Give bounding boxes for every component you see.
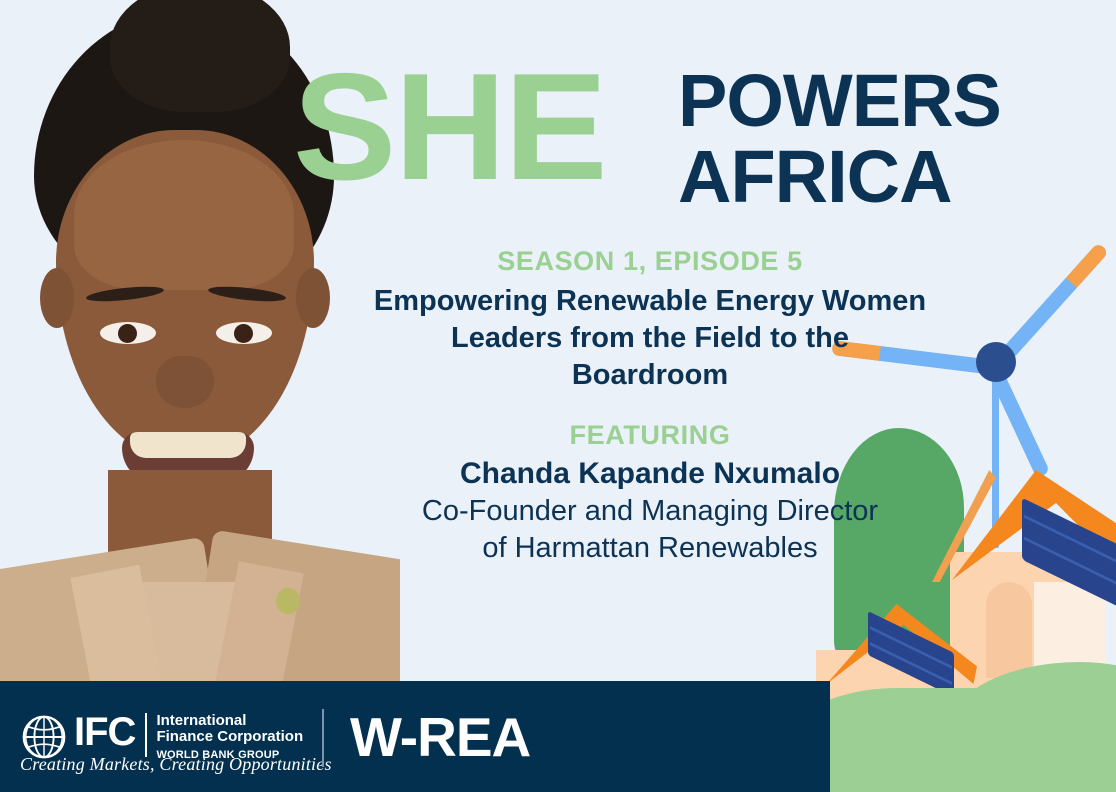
- ifc-name-line-2: Finance Corporation: [156, 729, 303, 745]
- show-title: SHE POWERS AFRICA: [296, 44, 1086, 224]
- show-title-she: SHE: [293, 52, 606, 202]
- footer-bar: IFC International Finance Corporation WO…: [0, 681, 830, 792]
- portrait-teeth: [130, 432, 246, 458]
- portrait-eye-left: [100, 322, 156, 344]
- portrait-eye-right: [216, 322, 272, 344]
- portrait-hair-bun: [110, 0, 290, 112]
- featuring-label: FEATURING: [330, 420, 970, 451]
- ifc-tagline: Creating Markets, Creating Opportunities: [20, 754, 332, 775]
- portrait-pupil: [234, 324, 253, 343]
- portrait-lapel-pin: [276, 588, 300, 614]
- portrait-forehead: [74, 140, 294, 290]
- portrait-ear-right: [296, 268, 330, 328]
- show-title-powers: POWERS: [678, 64, 1001, 138]
- footer-vertical-divider: [322, 709, 324, 767]
- partner-logo-wrea: W-REA: [350, 705, 530, 769]
- portrait-ear-left: [40, 268, 74, 328]
- season-episode-label: SEASON 1, EPISODE 5: [330, 246, 970, 277]
- episode-details: SEASON 1, EPISODE 5 Empowering Renewable…: [330, 246, 970, 567]
- podcast-episode-poster: SHE POWERS AFRICA SEASON 1, EPISODE 5 Em…: [0, 0, 1116, 792]
- guest-name: Chanda Kapande Nxumalo: [330, 455, 970, 493]
- portrait-pupil: [118, 324, 137, 343]
- house-door: [986, 582, 1032, 678]
- guest-role: Co-Founder and Managing Director of Harm…: [415, 493, 885, 567]
- show-title-africa: AFRICA: [678, 140, 952, 214]
- ifc-name-line-1: International: [156, 713, 303, 729]
- ifc-abbreviation: IFC: [74, 711, 135, 753]
- episode-title: Empowering Renewable Energy Women Leader…: [370, 283, 930, 394]
- ifc-divider: [145, 713, 147, 757]
- blade-tip: [1066, 242, 1109, 288]
- portrait-nose: [156, 356, 214, 408]
- wind-turbine-hub: [976, 342, 1016, 382]
